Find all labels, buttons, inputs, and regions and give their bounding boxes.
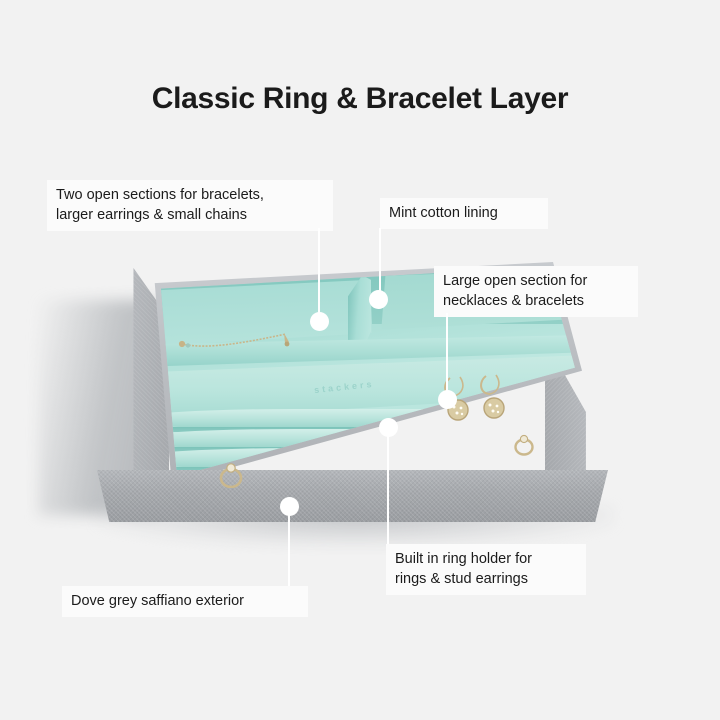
callout-dot-large-open-section[interactable] [438,390,457,409]
tray-front-wall [97,470,608,522]
callout-leader-large-open-section [446,313,448,397]
callout-label-two-open-sections: Two open sections for bracelets, larger … [47,180,333,231]
callout-dot-dove-grey-exterior[interactable] [280,497,299,516]
chain-necklace [178,330,318,354]
callout-dot-two-open-sections[interactable] [310,312,329,331]
callout-label-dove-grey-exterior: Dove grey saffiano exterior [62,586,308,617]
callout-leader-built-in-ring-holder [387,432,389,544]
callout-dot-built-in-ring-holder[interactable] [379,418,398,437]
callout-dot-mint-cotton-lining[interactable] [369,290,388,309]
infographic-canvas: Classic Ring & Bracelet Layer stackers [0,0,720,720]
callout-leader-dove-grey-exterior [288,512,290,586]
callout-label-built-in-ring-holder: Built in ring holder for rings & stud ea… [386,544,586,595]
ring-right [510,434,538,456]
callout-label-mint-cotton-lining: Mint cotton lining [380,198,548,229]
callout-leader-two-open-sections [318,228,320,320]
callout-label-large-open-section: Large open section for necklaces & brace… [434,266,638,317]
ring-left [214,462,248,488]
